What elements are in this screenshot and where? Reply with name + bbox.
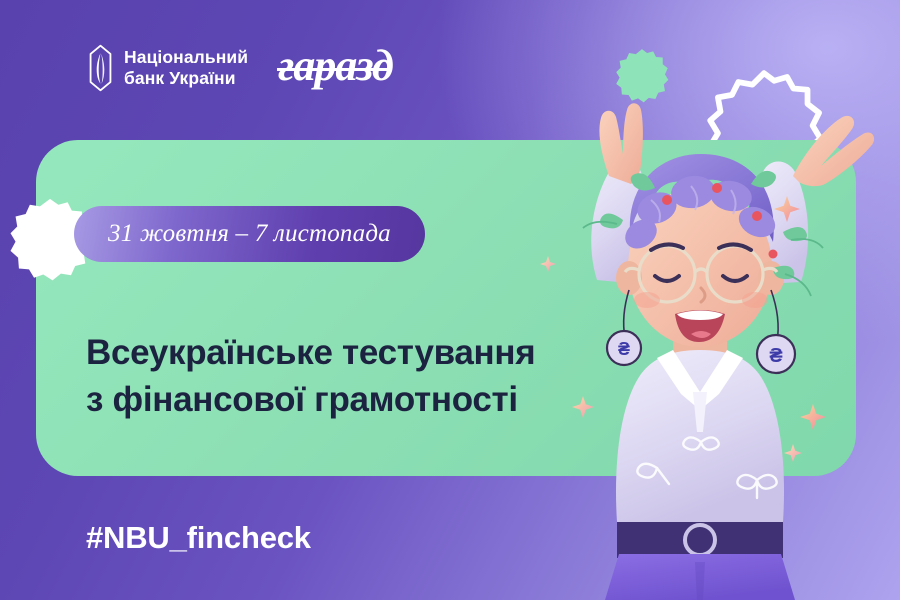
svg-text:₴: ₴ — [618, 339, 630, 359]
brand-header: Національний банк України гаразд — [88, 44, 393, 92]
svg-text:₴: ₴ — [769, 345, 782, 367]
sparkle-headline-right-icon — [572, 396, 594, 418]
sparkle-top-right-icon — [774, 196, 800, 222]
page-title: Всеукраїнське тестування з фінансової гр… — [86, 330, 535, 423]
date-badge-text: 31 жовтня – 7 листопада — [108, 220, 391, 248]
harazd-wordmark-text: гаразд — [278, 41, 393, 90]
campaign-hashtag: #NBU_fincheck — [86, 520, 311, 556]
nbu-logo: Національний банк України — [88, 44, 248, 92]
sparkle-mid-left-icon — [540, 256, 556, 272]
harazd-wordmark: гаразд — [278, 44, 393, 88]
sparkle-lower-right-icon — [800, 404, 826, 430]
nbu-logo-text: Національний банк України — [124, 47, 248, 88]
promo-banner: Національний банк України гаразд 31 жовт… — [0, 0, 900, 600]
sparkle-bottom-right-icon — [784, 444, 802, 462]
date-badge: 31 жовтня – 7 листопада — [74, 206, 425, 262]
nbu-emblem-icon — [88, 44, 113, 92]
woman-illustration: ₴ ₴ — [505, 92, 900, 600]
